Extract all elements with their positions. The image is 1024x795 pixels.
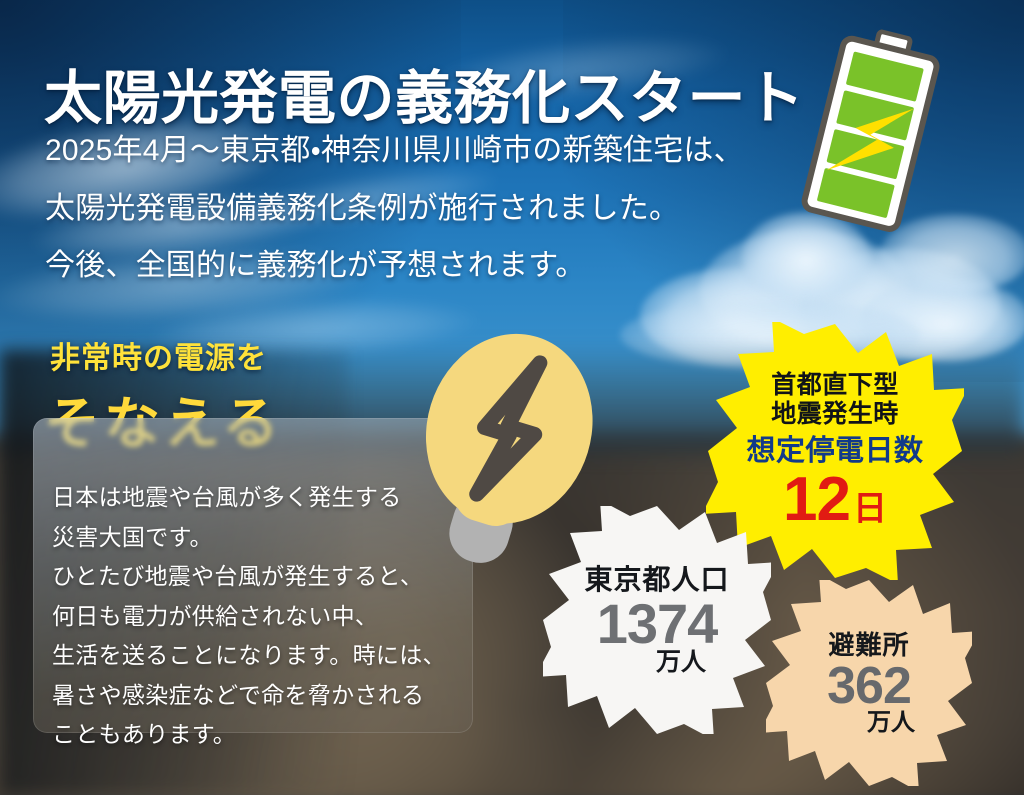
shelter-unit: 万人 [766,711,972,735]
blackout-label: 想定停電日数 [706,436,964,468]
body-line: 暑さや感染症などで命を脅かされる [52,676,472,716]
subhead-small: 非常時の電源を [50,333,267,377]
blackout-number: 12 [783,465,850,534]
status-badge-shelter-capacity: 避難所 362 万人 [766,580,972,786]
shelter-number: 362 [766,659,972,713]
body-line: 生活を送ることになります。時には、 [52,636,472,676]
cumulus-cloud-icon [880,214,1024,294]
lede-line: 2025年4月〜東京都・神奈川県川崎市の新築住宅は、 [45,122,845,180]
lede-line: 今後、全国的に義務化が予想されます。 [45,237,845,295]
lede-paragraph: 2025年4月〜東京都・神奈川県川崎市の新築住宅は、 太陽光発電設備義務化条例が… [45,122,845,295]
infographic-poster: 太陽光発電の義務化スタート 2025年4月〜東京都・神奈川県川崎市の新築住宅は、… [0,0,1024,795]
status-badge-tokyo-population: 東京都人口 1374 万人 [543,506,771,734]
shelter-title: 避難所 [766,631,972,660]
lede-line: 太陽光発電設備義務化条例が施行されました。 [45,180,845,238]
page-title: 太陽光発電の義務化スタート [44,69,805,130]
blackout-unit: 日 [853,490,887,528]
blackout-value: 12日 [706,469,964,531]
body-line: 何日も電力が供給されない中、 [52,597,472,637]
population-number: 1374 [543,595,771,652]
body-line: こともあります。 [52,715,472,755]
blackout-line-1: 首都直下型 [706,371,964,401]
blackout-line-2: 地震発生時 [706,400,964,430]
population-unit: 万人 [543,650,771,675]
